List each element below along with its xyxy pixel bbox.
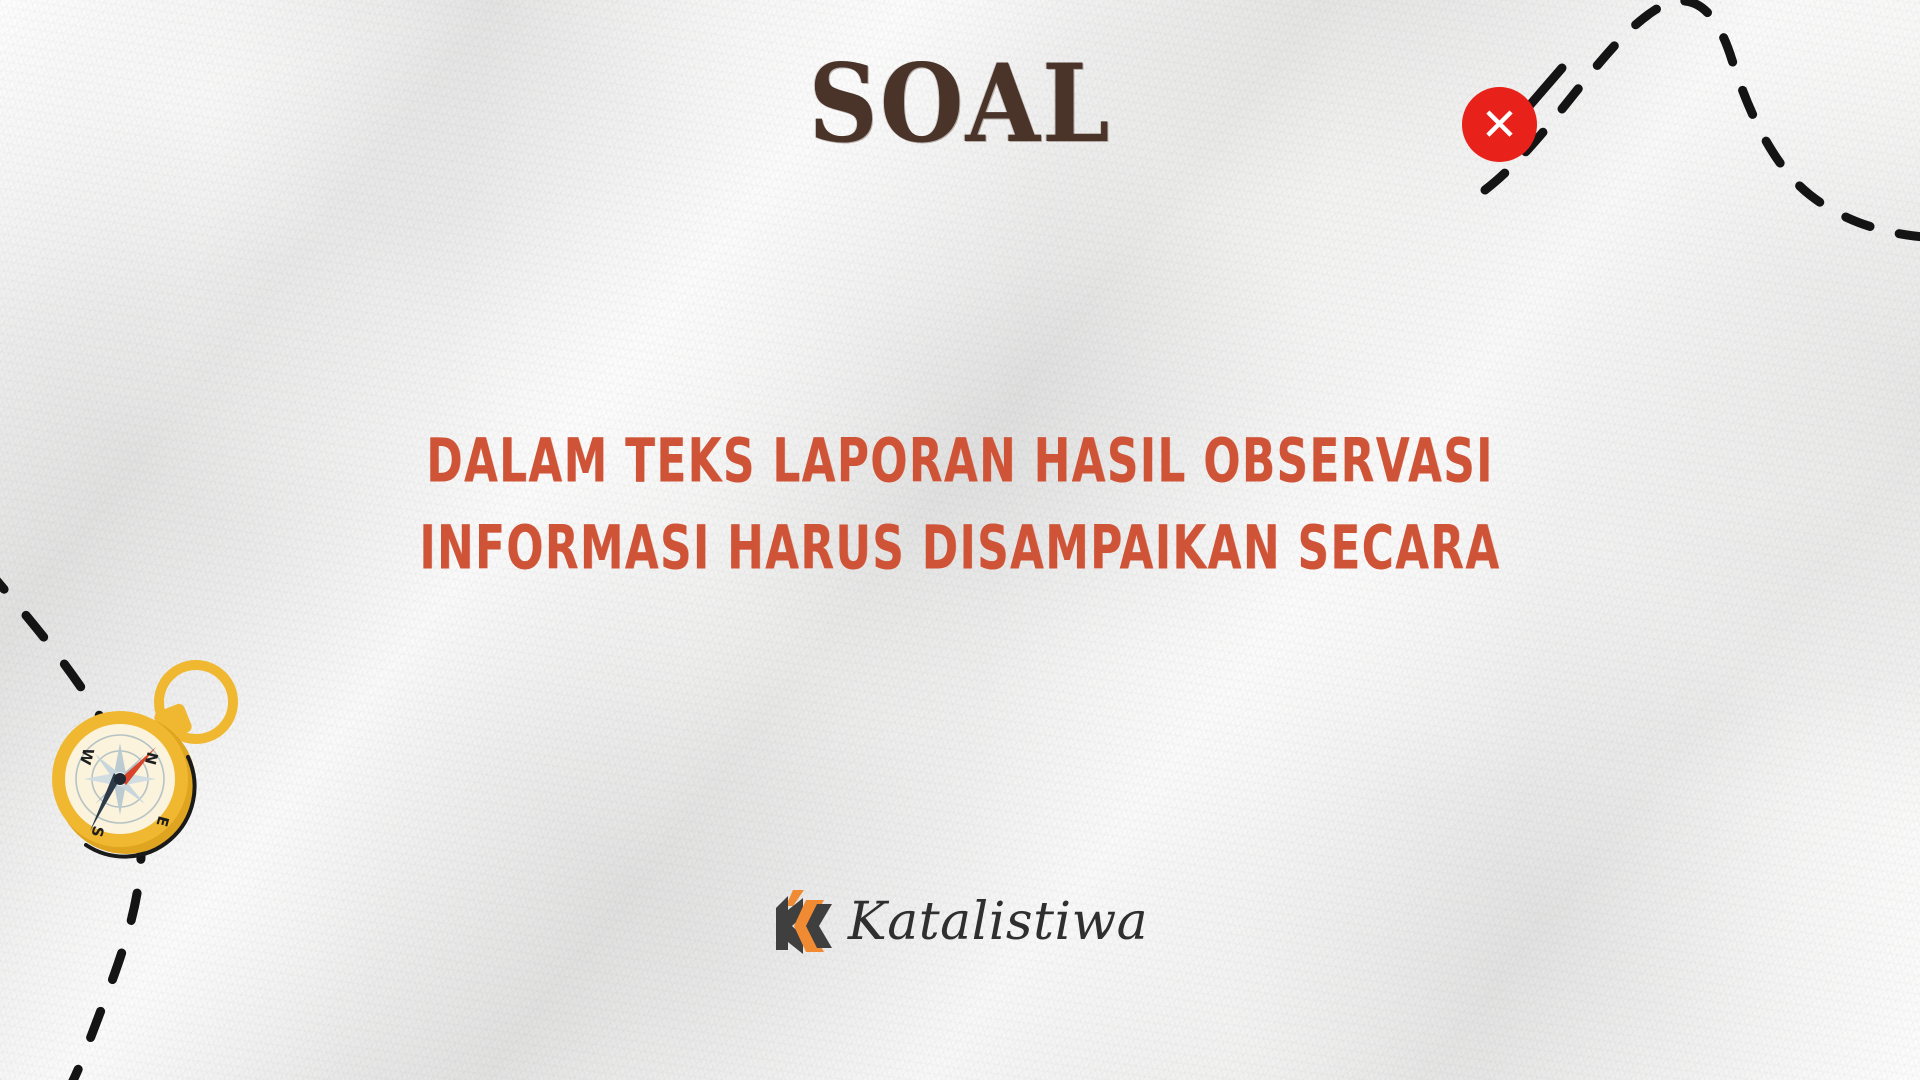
close-x-badge[interactable]: ✕ (1462, 87, 1537, 162)
slide-canvas: SOAL ✕ DALAM TEKS LAPORAN HASIL OBSERVAS… (0, 0, 1920, 1080)
question-line-1: DALAM TEKS LAPORAN HASIL OBSERVASI (67, 431, 1853, 491)
compass-needle-pivot (114, 773, 126, 785)
brand-logo: Katalistiwa (0, 888, 1920, 956)
question-line-2: INFORMASI HARUS DISAMPAIKAN SECARA (67, 518, 1853, 578)
katalistiwa-k-mark-icon (772, 888, 834, 956)
question-text-block: DALAM TEKS LAPORAN HASIL OBSERVASI INFOR… (0, 438, 1920, 572)
compass-illustration: N S E W (28, 655, 258, 860)
slide-title: SOAL (0, 48, 1920, 161)
close-x-icon: ✕ (1462, 87, 1537, 162)
brand-wordmark: Katalistiwa (848, 896, 1148, 948)
